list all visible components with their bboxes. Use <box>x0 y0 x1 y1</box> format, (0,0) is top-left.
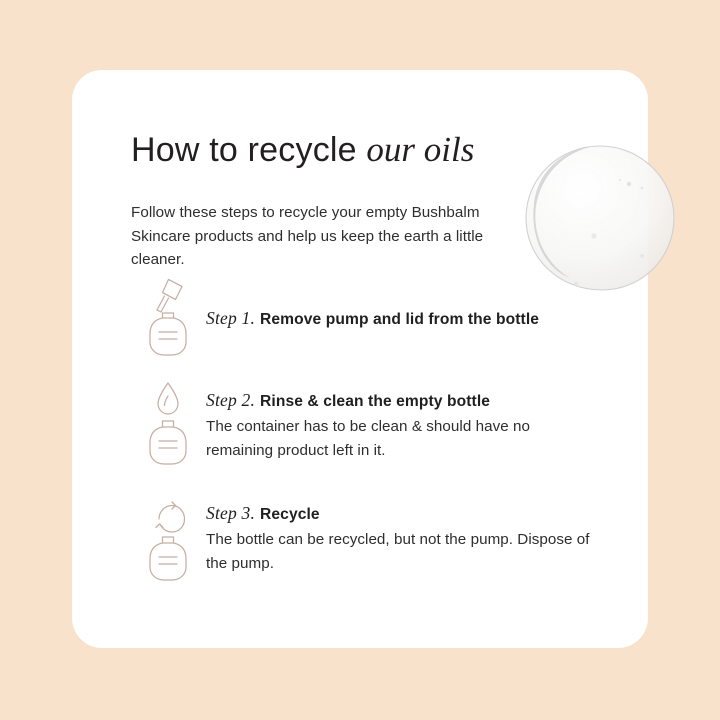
recycle-bottle-icon <box>131 488 205 584</box>
step-content: Step 1.Remove pump and lid from the bott… <box>205 272 601 331</box>
step-title: Step 3.Recycle <box>206 502 601 526</box>
poster-canvas: How to recycle our oils Follow these ste… <box>0 0 720 720</box>
droplet-bottle-icon <box>131 375 205 470</box>
step-heading: Remove pump and lid from the bottle <box>260 311 539 328</box>
page-title-accent: our oils <box>366 130 474 169</box>
step-label: Step 1. <box>206 308 255 328</box>
step-description: The bottle can be recycled, but not the … <box>206 528 601 575</box>
list-item: Step 3.Recycle The bottle can be recycle… <box>131 488 601 588</box>
step-title: Step 2.Rinse & clean the empty bottle <box>206 389 601 413</box>
step-title: Step 1.Remove pump and lid from the bott… <box>206 307 601 331</box>
page-title: How to recycle our oils <box>131 130 474 170</box>
steps-list: Step 1.Remove pump and lid from the bott… <box>131 272 601 588</box>
step-label: Step 2. <box>206 390 255 410</box>
step-content: Step 3.Recycle The bottle can be recycle… <box>205 488 601 575</box>
step-description: The container has to be clean & should h… <box>206 415 601 462</box>
page-title-main: How to recycle <box>131 131 357 169</box>
list-item: Step 1.Remove pump and lid from the bott… <box>131 272 601 375</box>
intro-paragraph: Follow these steps to recycle your empty… <box>131 201 516 272</box>
step-heading: Recycle <box>260 506 320 523</box>
step-label: Step 3. <box>206 503 255 523</box>
step-heading: Rinse & clean the empty bottle <box>260 393 490 410</box>
dropper-bottle-icon <box>131 272 205 360</box>
list-item: Step 2.Rinse & clean the empty bottle Th… <box>131 375 601 488</box>
step-content: Step 2.Rinse & clean the empty bottle Th… <box>205 375 601 462</box>
